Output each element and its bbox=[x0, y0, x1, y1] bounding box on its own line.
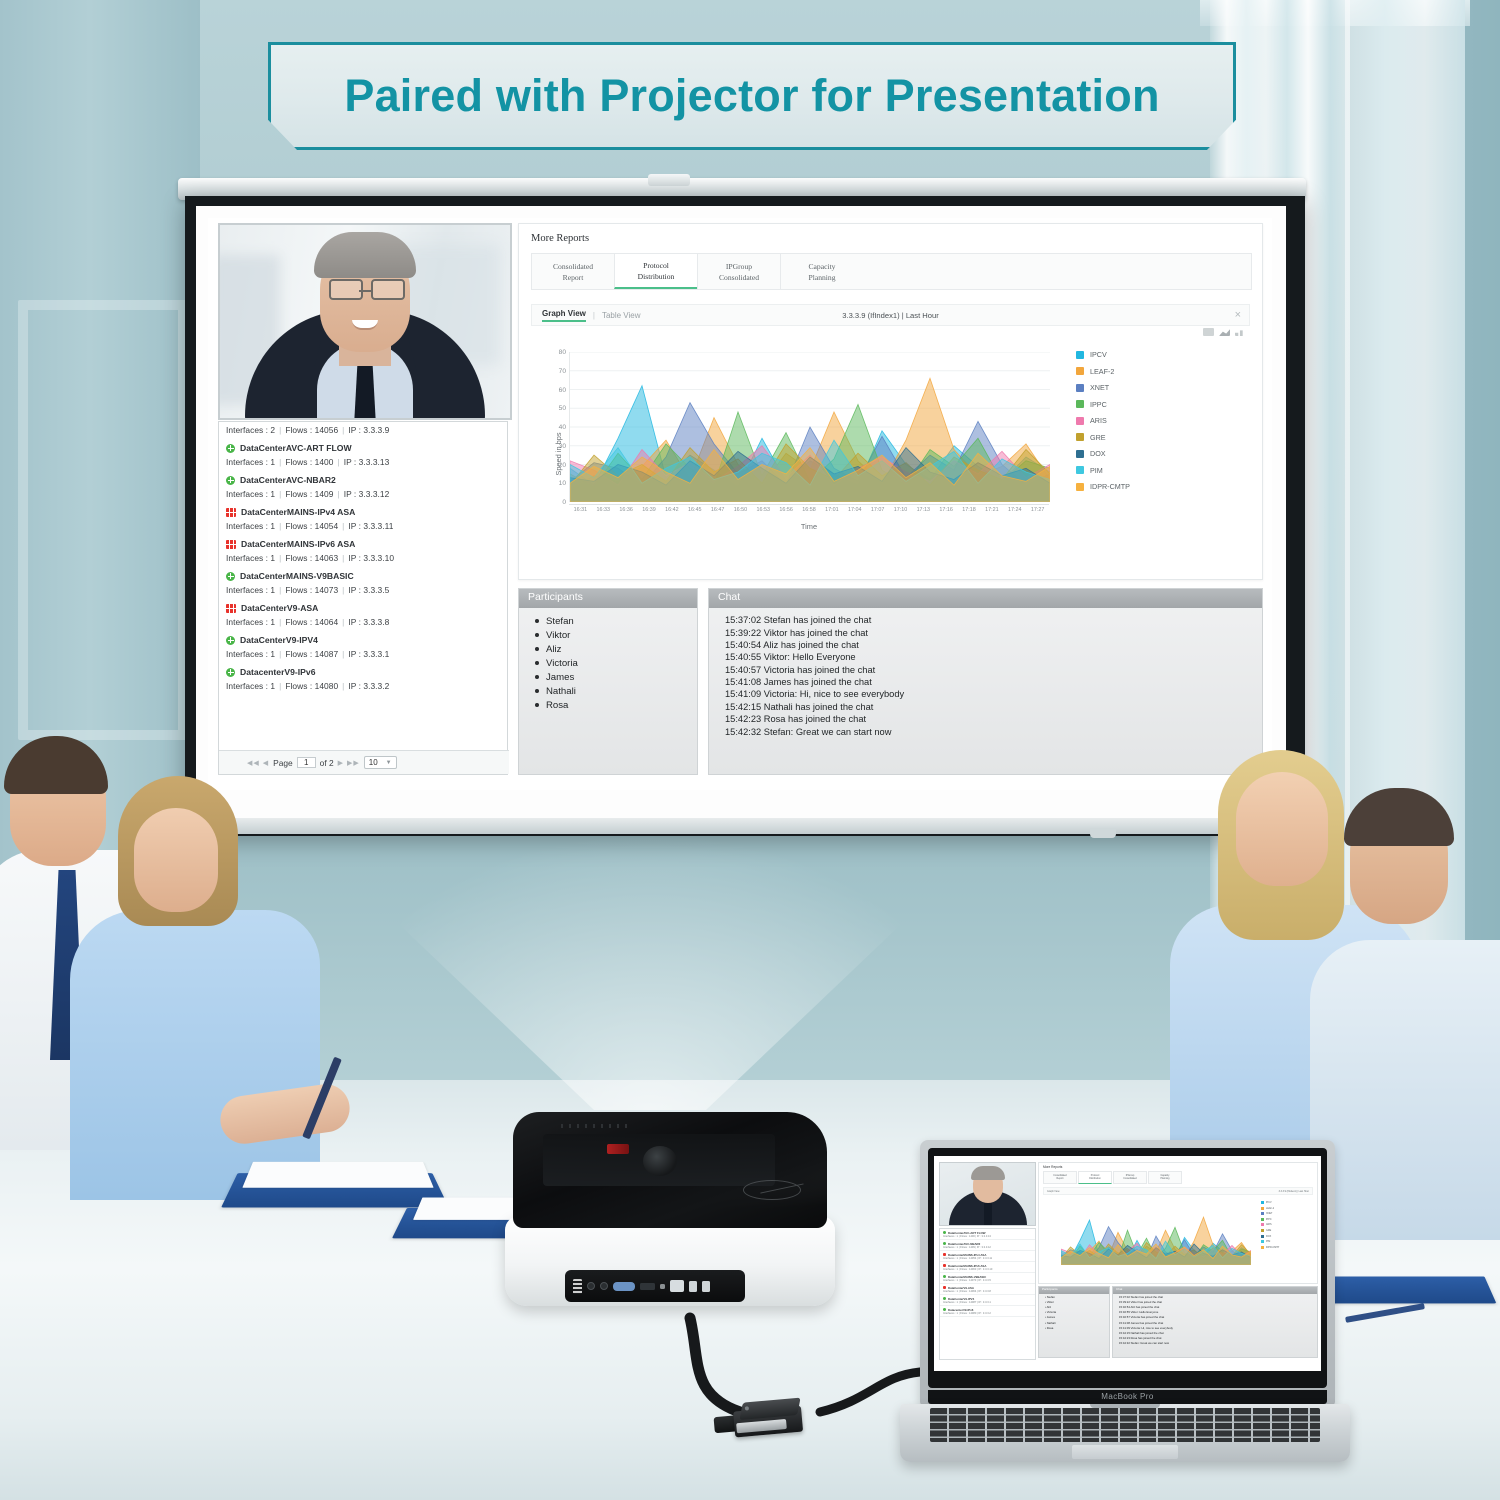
screenshot-root: Paired with Projector for Presentation bbox=[0, 0, 1500, 1500]
chart-y-tick: 20 bbox=[550, 462, 566, 469]
projector-light-beam bbox=[300, 830, 1000, 1110]
legend-swatch bbox=[1076, 466, 1084, 474]
participant-name: Stefan bbox=[546, 616, 574, 627]
device-ip: IP : 3.3.3.10 bbox=[348, 553, 394, 563]
report-tabs: ConsolidatedReportProtocolDistributionIP… bbox=[531, 253, 1252, 290]
device-flows: Flows : 14063 bbox=[285, 553, 338, 563]
device-name-row: DataCenterAVC-NBAR2 bbox=[219, 472, 507, 486]
legend-item[interactable]: ARIS bbox=[1076, 416, 1196, 425]
tab-strip-filler bbox=[863, 253, 1252, 289]
bullet-icon bbox=[535, 675, 539, 679]
mini-legend-item: LEAF-2 bbox=[1261, 1207, 1279, 1210]
legend-swatch bbox=[1076, 450, 1084, 458]
laptop-screen: DataCenterAVC-ART FLOWInterfaces : 1 | F… bbox=[934, 1156, 1321, 1371]
mini-legend-label: LEAF-2 bbox=[1266, 1207, 1274, 1210]
device-interfaces: Interfaces : 1 bbox=[226, 649, 275, 659]
legend-item[interactable]: DOX bbox=[1076, 449, 1196, 458]
presenter-hair bbox=[314, 232, 416, 278]
laptop[interactable]: DataCenterAVC-ART FLOWInterfaces : 1 | F… bbox=[900, 1140, 1350, 1470]
mini-participants-panel: Participants • Stefan• Viktor• Aliz• Vic… bbox=[1038, 1286, 1110, 1358]
chart-plot-area: 01020304050607080 bbox=[569, 352, 1050, 502]
participants-title: Participants bbox=[519, 589, 697, 608]
mini-tie bbox=[984, 1202, 992, 1226]
chat-message: 15:41:09 Victoria: Hi, nice to see every… bbox=[709, 688, 1262, 700]
chart-svg bbox=[570, 352, 1050, 502]
device-name-row: DataCenterV9-ASA bbox=[219, 600, 507, 614]
mini-legend-item: IDPR-CMTP bbox=[1261, 1246, 1279, 1249]
participant-item[interactable]: Aliz bbox=[519, 642, 697, 656]
context-label: 3.3.3.9 (IfIndex1) | Last Hour bbox=[842, 311, 939, 320]
device-ip: IP : 3.3.3.1 bbox=[348, 649, 389, 659]
chart-legend: IPCVLEAF-2XNETIPPCARISGREDOXPIMIDPR-CMTP bbox=[1076, 350, 1196, 499]
chart-x-tick: 16:58 bbox=[798, 507, 821, 513]
mini-view-toolbar: Graph View 3.3.3.9 (IfIndex1) | Last Hou… bbox=[1043, 1187, 1313, 1195]
mini-legend-label: XNET bbox=[1266, 1212, 1272, 1215]
device-name: DataCenterMAINS-V9BASIC bbox=[240, 571, 354, 581]
hdmi-port[interactable] bbox=[640, 1283, 655, 1290]
legend-label: DOX bbox=[1090, 449, 1106, 458]
device-interfaces: Interfaces : 1 bbox=[226, 521, 275, 531]
chart-x-tick: 16:31 bbox=[569, 507, 592, 513]
ethernet-port[interactable] bbox=[670, 1280, 684, 1292]
device-meta-row: Interfaces : 1|Flows : 14087|IP : 3.3.3.… bbox=[219, 646, 507, 664]
chart-y-tick: 30 bbox=[550, 443, 566, 450]
chart-x-tick: 16:47 bbox=[706, 507, 729, 513]
device-name: DataCenterV9-ASA bbox=[241, 603, 318, 613]
device-flows: Flows : 14080 bbox=[285, 681, 338, 691]
chart-x-axis bbox=[569, 504, 1049, 505]
chat-message: 15:40:57 Victoria has joined the chat bbox=[709, 664, 1262, 676]
mini-graph-view: Graph View bbox=[1047, 1190, 1059, 1193]
participant-item[interactable]: James bbox=[519, 670, 697, 684]
participants-panel: Participants StefanViktorAlizVictoriaJam… bbox=[518, 588, 698, 775]
laptop-brand-label: MacBook Pro bbox=[928, 1390, 1327, 1404]
chat-message: 15:37:02 Stefan has joined the chat bbox=[709, 614, 1262, 626]
device-meta-row: Interfaces : 1|Flows : 14064|IP : 3.3.3.… bbox=[219, 614, 507, 632]
participant-item[interactable]: Rosa bbox=[519, 698, 697, 712]
mini-chat-title: Chat bbox=[1113, 1287, 1317, 1294]
legend-label: IPCV bbox=[1090, 350, 1107, 359]
mini-legend-item: IPPC bbox=[1261, 1218, 1279, 1221]
plus-circle-icon[interactable] bbox=[226, 668, 235, 677]
device-interfaces: Interfaces : 1 bbox=[226, 681, 275, 691]
mini-report-tabs: ConsolidatedReportProtocolDistributionIP… bbox=[1043, 1171, 1317, 1184]
device-interfaces: Interfaces : 1 bbox=[226, 617, 275, 627]
firewall-icon[interactable] bbox=[226, 508, 236, 517]
mini-legend-item: DOX bbox=[1261, 1235, 1279, 1238]
mini-legend-swatch bbox=[1261, 1212, 1264, 1215]
chat-title: Chat bbox=[709, 589, 1262, 608]
legend-item[interactable]: XNET bbox=[1076, 383, 1196, 392]
projector-logo bbox=[743, 1180, 801, 1200]
firewall-icon[interactable] bbox=[226, 540, 236, 549]
glasses-bridge bbox=[359, 290, 371, 292]
device-list-item[interactable]: DataCenterAVC-NBAR2Interfaces : 1|Flows … bbox=[219, 472, 507, 504]
mini-legend-label: PIM bbox=[1266, 1240, 1270, 1243]
page-title: More Reports bbox=[519, 224, 1262, 244]
chart-x-tick: 17:27 bbox=[1026, 507, 1049, 513]
plus-circle-icon[interactable] bbox=[226, 444, 235, 453]
participant-name: Aliz bbox=[546, 644, 561, 655]
mini-reports-card: More Reports ConsolidatedReportProtocolD… bbox=[1038, 1162, 1318, 1284]
device-meta-row: Interfaces : 1|Flows : 1409|IP : 3.3.3.1… bbox=[219, 486, 507, 504]
tab-label: ProtocolDistribution bbox=[638, 260, 675, 282]
mini-legend-swatch bbox=[1261, 1201, 1264, 1204]
chat-message: 15:42:23 Rosa has joined the chat bbox=[709, 713, 1262, 725]
chart-x-tick: 17:24 bbox=[1003, 507, 1026, 513]
chart-series-idpr-cmtp bbox=[1061, 1244, 1251, 1265]
participant-name: Rosa bbox=[546, 700, 568, 711]
device-name-row: DataCenterMAINS-IPv4 ASA bbox=[219, 504, 507, 518]
mini-hair bbox=[971, 1166, 1005, 1180]
device-ip: IP : 3.3.3.2 bbox=[348, 681, 389, 691]
chart-y-tick: 80 bbox=[550, 349, 566, 356]
tab-capacity-planning[interactable]: CapacityPlanning bbox=[780, 253, 864, 289]
usb-port[interactable] bbox=[689, 1281, 697, 1292]
tab-graph-view[interactable]: Graph View bbox=[542, 309, 586, 322]
plus-circle-icon[interactable] bbox=[226, 636, 235, 645]
chat-message: 15:41:08 James has joined the chat bbox=[709, 676, 1262, 688]
participant-item[interactable]: Viktor bbox=[519, 628, 697, 642]
legend-item[interactable]: IPPC bbox=[1076, 400, 1196, 409]
reports-card: More Reports ConsolidatedReportProtocolD… bbox=[518, 223, 1263, 580]
laptop-trackpad[interactable] bbox=[1072, 1445, 1178, 1459]
participants-list: StefanViktorAlizVictoriaJamesNathaliRosa bbox=[519, 608, 697, 712]
device-name-row: DataCenterV9-IPV4 bbox=[219, 632, 507, 646]
tab-ipgroup-consolidated[interactable]: IPGroupConsolidated bbox=[697, 253, 781, 289]
participant-item[interactable]: Nathali bbox=[519, 684, 697, 698]
device-flows: Flows : 14087 bbox=[285, 649, 338, 659]
projector-vents bbox=[561, 1124, 631, 1128]
projector-lens bbox=[643, 1146, 677, 1176]
chart-x-tick: 16:42 bbox=[660, 507, 683, 513]
mini-legend-label: IPPC bbox=[1266, 1218, 1272, 1221]
mini-legend-item: PIM bbox=[1261, 1240, 1279, 1243]
chart-y-tick: 10 bbox=[550, 480, 566, 487]
legend-swatch bbox=[1076, 433, 1084, 441]
legend-swatch bbox=[1076, 400, 1084, 408]
bullet-icon bbox=[535, 661, 539, 665]
legend-item[interactable]: IDPR-CMTP bbox=[1076, 482, 1196, 491]
chat-message: 15:39:22 Viktor has joined the chat bbox=[709, 626, 1262, 638]
usb-port-2[interactable] bbox=[702, 1281, 710, 1292]
legend-item[interactable]: GRE bbox=[1076, 433, 1196, 442]
bullet-icon bbox=[535, 619, 539, 623]
mini-chart-plot bbox=[1061, 1207, 1251, 1265]
legend-item[interactable]: PIM bbox=[1076, 466, 1196, 475]
device-list-item[interactable]: DataCenterV9-IPV4Interfaces : 1|Flows : … bbox=[219, 632, 507, 664]
legend-label: GRE bbox=[1090, 433, 1106, 442]
mini-legend-item: ARIS bbox=[1261, 1223, 1279, 1226]
device-flows: Flows : 14054 bbox=[285, 521, 338, 531]
device-ip: IP : 3.3.3.13 bbox=[344, 457, 390, 467]
chart-y-tick: 0 bbox=[550, 499, 566, 506]
legend-swatch bbox=[1076, 417, 1084, 425]
mini-legend-item: XNET bbox=[1261, 1212, 1279, 1215]
mini-participant: • Rosa bbox=[1039, 1325, 1109, 1330]
chart-x-tick: 17:21 bbox=[980, 507, 1003, 513]
device-list-item[interactable]: DataCenterMAINS-V9BASICInterfaces : 1|Fl… bbox=[219, 568, 507, 600]
power-port[interactable] bbox=[573, 1279, 582, 1294]
participant-name: Viktor bbox=[546, 630, 570, 641]
mini-device-item: DataCenterAVC-ART FLOWInterfaces : 1 | F… bbox=[940, 1229, 1035, 1240]
device-ip: IP : 3.3.3.11 bbox=[348, 521, 393, 531]
device-name-row: DataCenterMAINS-IPv6 ASA bbox=[219, 536, 507, 550]
plus-circle-icon[interactable] bbox=[226, 572, 235, 581]
device-list-item[interactable]: DataCenterMAINS-IPv4 ASAInterfaces : 1|F… bbox=[219, 504, 507, 536]
device-interfaces: Interfaces : 1 bbox=[226, 489, 275, 499]
mini-legend-item: IPCV bbox=[1261, 1201, 1279, 1204]
mini-legend-swatch bbox=[1261, 1229, 1264, 1232]
device-list-item[interactable]: DataCenterMAINS-IPv6 ASAInterfaces : 1|F… bbox=[219, 536, 507, 568]
projection-screen-knob bbox=[648, 174, 690, 186]
device-name: DataCenterMAINS-IPv4 ASA bbox=[241, 507, 355, 517]
header-banner: Paired with Projector for Presentation bbox=[268, 42, 1236, 150]
participant-name: Nathali bbox=[546, 686, 576, 697]
tab-label: ConsolidatedReport bbox=[553, 261, 593, 283]
legend-item[interactable]: LEAF-2 bbox=[1076, 367, 1196, 376]
chart-svg bbox=[1061, 1207, 1251, 1265]
device-flows: Flows : 1409 bbox=[285, 489, 333, 499]
mini-legend-swatch bbox=[1261, 1223, 1264, 1226]
header-ip: IP : 3.3.3.9 bbox=[348, 425, 389, 435]
mini-device-item: DataCenterMAINS-V9BASICInterfaces : 1 | … bbox=[940, 1273, 1035, 1284]
legend-label: PIM bbox=[1090, 466, 1103, 475]
bullet-icon bbox=[535, 647, 539, 651]
chart-x-tick: 16:56 bbox=[775, 507, 798, 513]
tab-label: CapacityPlanning bbox=[808, 261, 835, 283]
device-ip: IP : 3.3.3.8 bbox=[348, 617, 389, 627]
projector[interactable] bbox=[505, 1112, 835, 1312]
line-chart-icon[interactable] bbox=[1219, 328, 1230, 336]
chat-message: 15:40:55 Viktor: Hello Everyone bbox=[709, 651, 1262, 663]
mini-tab: IPGroupConsolidated bbox=[1113, 1171, 1147, 1184]
chart-x-tick: 17:07 bbox=[866, 507, 889, 513]
device-flows: Flows : 14064 bbox=[285, 617, 338, 627]
device-meta-row: Interfaces : 1|Flows : 14080|IP : 3.3.3.… bbox=[219, 678, 507, 696]
device-list-item[interactable]: DataCenterAVC-ART FLOWInterfaces : 1|Flo… bbox=[219, 440, 507, 472]
mini-presenter-video bbox=[939, 1162, 1036, 1226]
mini-tab: CapacityPlanning bbox=[1148, 1171, 1182, 1184]
tab-protocol-distribution[interactable]: ProtocolDistribution bbox=[614, 253, 698, 289]
mini-legend-label: DOX bbox=[1266, 1235, 1271, 1238]
chart-x-tick: 17:18 bbox=[958, 507, 981, 513]
projected-application: Interfaces : 2|Flows : 14056|IP : 3.3.3.… bbox=[208, 218, 1272, 790]
header-flows: Flows : 14056 bbox=[285, 425, 338, 435]
chart-y-tick: 60 bbox=[550, 387, 566, 394]
mini-chart-legend: IPCVLEAF-2XNETIPPCARISGREDOXPIMIDPR-CMTP bbox=[1261, 1201, 1279, 1251]
legend-swatch bbox=[1076, 351, 1084, 359]
left-column: Interfaces : 2|Flows : 14056|IP : 3.3.3.… bbox=[218, 223, 508, 775]
presenter-video-tile[interactable] bbox=[218, 223, 512, 420]
banner-title: Paired with Projector for Presentation bbox=[344, 70, 1159, 122]
device-name-row: DataCenterMAINS-V9BASIC bbox=[219, 568, 507, 582]
legend-swatch bbox=[1076, 384, 1084, 392]
mini-chat-list: 15:37:02 Stefan has joined the chat15:39… bbox=[1113, 1294, 1317, 1346]
projection-screen-foot bbox=[1090, 828, 1116, 838]
service-port[interactable] bbox=[660, 1284, 665, 1289]
chart-x-tick: 17:13 bbox=[912, 507, 935, 513]
chart-y-tick: 40 bbox=[550, 424, 566, 431]
participant-item[interactable]: Stefan bbox=[519, 614, 697, 628]
participant-name: Victoria bbox=[546, 658, 578, 669]
chart-y-tick: 50 bbox=[550, 405, 566, 412]
chart-x-tick: 17:10 bbox=[889, 507, 912, 513]
mini-participants-title: Participants bbox=[1039, 1287, 1109, 1294]
mini-legend-label: IPCV bbox=[1266, 1201, 1272, 1204]
projector-top-shell bbox=[513, 1112, 827, 1228]
mini-legend-swatch bbox=[1261, 1240, 1264, 1243]
mini-legend-item: GRE bbox=[1261, 1229, 1279, 1232]
device-meta-row: Interfaces : 1|Flows : 14073|IP : 3.3.3.… bbox=[219, 582, 507, 600]
mini-legend-label: IDPR-CMTP bbox=[1266, 1246, 1279, 1249]
device-interfaces: Interfaces : 1 bbox=[226, 553, 275, 563]
chart-x-tick-labels: 16:3116:3316:3616:3916:4216:4516:4716:50… bbox=[569, 507, 1049, 513]
laptop-key-rows bbox=[930, 1408, 1320, 1442]
chart-x-tick: 17:01 bbox=[820, 507, 843, 513]
attendee-hair bbox=[1344, 788, 1454, 846]
attendee-right-man bbox=[1310, 760, 1500, 1200]
device-list-item[interactable]: DataCenterV9-ASAInterfaces : 1|Flows : 1… bbox=[219, 600, 507, 632]
chart-x-tick: 16:36 bbox=[615, 507, 638, 513]
chart-x-tick: 16:45 bbox=[683, 507, 706, 513]
vga-port[interactable] bbox=[613, 1282, 635, 1291]
bullet-icon bbox=[535, 633, 539, 637]
chart-type-toolbar[interactable] bbox=[1203, 328, 1246, 336]
mini-device-item: DataCenterV9-IPV4Interfaces : 1 | Flows … bbox=[940, 1295, 1035, 1306]
mini-device-item: DataCenterAVC-NBAR2Interfaces : 1 | Flow… bbox=[940, 1240, 1035, 1251]
mini-chat-message: 15:42:32 Stefan: Great we can start now bbox=[1113, 1341, 1317, 1346]
device-meta-row: Interfaces : 1|Flows : 14054|IP : 3.3.3.… bbox=[219, 518, 507, 536]
mini-device-item: DataCenterMAINS-IPv6 ASAInterfaces : 1 |… bbox=[940, 1262, 1035, 1273]
mini-page-title: More Reports bbox=[1039, 1163, 1317, 1169]
chart-x-tick: 16:53 bbox=[752, 507, 775, 513]
area-chart-icon[interactable] bbox=[1203, 328, 1214, 336]
mini-device-item: DatacenterV9-IPv6Interfaces : 1 | Flows … bbox=[940, 1306, 1035, 1317]
mini-legend-label: ARIS bbox=[1266, 1223, 1272, 1226]
participant-item[interactable]: Victoria bbox=[519, 656, 697, 670]
mini-device-item: DataCenterMAINS-IPv4 ASAInterfaces : 1 |… bbox=[940, 1251, 1035, 1262]
protocol-distribution-chart: Speed in bps 01020304050607080 16:3116:3… bbox=[531, 346, 1252, 561]
page-size-value: 10 bbox=[369, 758, 378, 767]
device-name-row: DataCenterAVC-ART FLOW bbox=[219, 440, 507, 454]
legend-swatch bbox=[1076, 483, 1084, 491]
device-list-item[interactable]: DatacenterV9-IPv6Interfaces : 1|Flows : … bbox=[219, 664, 507, 696]
device-name: DataCenterAVC-ART FLOW bbox=[240, 443, 352, 453]
chevron-down-icon: ▼ bbox=[386, 760, 392, 766]
laptop-mirrored-ui: DataCenterAVC-ART FLOWInterfaces : 1 | F… bbox=[934, 1156, 1321, 1371]
bullet-icon bbox=[535, 689, 539, 693]
mini-device-list: DataCenterAVC-ART FLOWInterfaces : 1 | F… bbox=[939, 1228, 1036, 1360]
paper-left bbox=[242, 1162, 433, 1188]
page-size-select[interactable]: 10 ▼ bbox=[364, 756, 397, 769]
mini-chat-panel: Chat 15:37:02 Stefan has joined the chat… bbox=[1112, 1286, 1318, 1358]
attendee-face bbox=[134, 808, 218, 912]
tab-label: IPGroupConsolidated bbox=[719, 261, 759, 283]
chart-x-tick: 16:50 bbox=[729, 507, 752, 513]
legend-label: ARIS bbox=[1090, 416, 1107, 425]
mini-legend-swatch bbox=[1261, 1207, 1264, 1210]
device-list-panel: Interfaces : 2|Flows : 14056|IP : 3.3.3.… bbox=[218, 421, 508, 775]
chart-x-tick: 17:16 bbox=[935, 507, 958, 513]
glasses-lens-left bbox=[329, 279, 363, 300]
legend-label: LEAF-2 bbox=[1090, 367, 1114, 376]
legend-label: IDPR-CMTP bbox=[1090, 482, 1130, 491]
plus-circle-icon[interactable] bbox=[226, 476, 235, 485]
device-list-header-meta: Interfaces : 2|Flows : 14056|IP : 3.3.3.… bbox=[219, 422, 507, 440]
bar-chart-icon[interactable] bbox=[1235, 328, 1246, 336]
device-flows: Flows : 1400 bbox=[285, 457, 333, 467]
mini-tab: ConsolidatedReport bbox=[1043, 1171, 1077, 1184]
device-name: DataCenterV9-IPV4 bbox=[240, 635, 318, 645]
chat-message: 15:40:54 Aliz has joined the chat bbox=[709, 639, 1262, 651]
device-meta-row: Interfaces : 1|Flows : 1400|IP : 3.3.3.1… bbox=[219, 454, 507, 472]
projector-indicator-led bbox=[607, 1144, 629, 1154]
chart-x-tick: 16:39 bbox=[638, 507, 661, 513]
chart-x-axis-label: Time bbox=[569, 522, 1049, 531]
mini-device-item: DataCenterV9-ASAInterfaces : 1 | Flows :… bbox=[940, 1284, 1035, 1295]
mini-participants-list: • Stefan• Viktor• Aliz• Victoria• James•… bbox=[1039, 1294, 1109, 1330]
view-divider: | bbox=[593, 311, 595, 320]
device-meta-row: Interfaces : 1|Flows : 14063|IP : 3.3.3.… bbox=[219, 550, 507, 568]
audio-out-port[interactable] bbox=[600, 1282, 608, 1290]
tab-consolidated-report[interactable]: ConsolidatedReport bbox=[531, 253, 615, 289]
mini-legend-swatch bbox=[1261, 1218, 1264, 1221]
mini-context: 3.3.3.9 (IfIndex1) | Last Hour bbox=[1279, 1190, 1309, 1193]
projector-port-panel[interactable] bbox=[565, 1270, 745, 1302]
bullet-icon bbox=[535, 703, 539, 707]
header-interfaces: Interfaces : 2 bbox=[226, 425, 275, 435]
device-ip: IP : 3.3.3.5 bbox=[348, 585, 389, 595]
firewall-icon[interactable] bbox=[226, 604, 236, 613]
legend-swatch bbox=[1076, 367, 1084, 375]
mini-tab: ProtocolDistribution bbox=[1078, 1171, 1112, 1184]
close-icon[interactable]: × bbox=[1235, 310, 1241, 321]
attendee-blouse bbox=[70, 910, 320, 1200]
device-ip: IP : 3.3.3.12 bbox=[344, 489, 390, 499]
legend-label: XNET bbox=[1090, 383, 1109, 392]
participant-name: James bbox=[546, 672, 574, 683]
chat-message-list: 15:37:02 Stefan has joined the chat15:39… bbox=[709, 608, 1262, 738]
chart-x-tick: 17:04 bbox=[843, 507, 866, 513]
device-interfaces: Interfaces : 1 bbox=[226, 585, 275, 595]
right-column: More Reports ConsolidatedReportProtocolD… bbox=[518, 223, 1263, 775]
chat-message: 15:42:15 Nathali has joined the chat bbox=[709, 701, 1262, 713]
device-flows: Flows : 14073 bbox=[285, 585, 338, 595]
usb-c-to-hdmi-adapter[interactable] bbox=[720, 1394, 828, 1447]
mini-legend-label: GRE bbox=[1266, 1229, 1271, 1232]
audio-in-port[interactable] bbox=[587, 1282, 595, 1290]
chart-y-axis-label: Speed in bps bbox=[554, 432, 563, 475]
legend-item[interactable]: IPCV bbox=[1076, 350, 1196, 359]
chart-x-tick: 16:33 bbox=[592, 507, 615, 513]
device-interfaces: Interfaces : 1 bbox=[226, 457, 275, 467]
device-rows: DataCenterAVC-ART FLOWInterfaces : 1|Flo… bbox=[219, 440, 507, 696]
mini-legend-swatch bbox=[1261, 1235, 1264, 1238]
mini-legend-swatch bbox=[1261, 1246, 1264, 1249]
view-toolbar: Graph View | Table View 3.3.3.9 (IfIndex… bbox=[531, 304, 1250, 326]
tab-table-view[interactable]: Table View bbox=[602, 311, 641, 320]
device-name: DataCenterMAINS-IPv6 ASA bbox=[241, 539, 355, 549]
chart-y-tick: 70 bbox=[550, 368, 566, 375]
legend-label: IPPC bbox=[1090, 400, 1107, 409]
device-name: DataCenterAVC-NBAR2 bbox=[240, 475, 336, 485]
glasses-lens-right bbox=[371, 279, 405, 300]
device-name: DatacenterV9-IPv6 bbox=[240, 667, 315, 677]
device-name-row: DatacenterV9-IPv6 bbox=[219, 664, 507, 678]
